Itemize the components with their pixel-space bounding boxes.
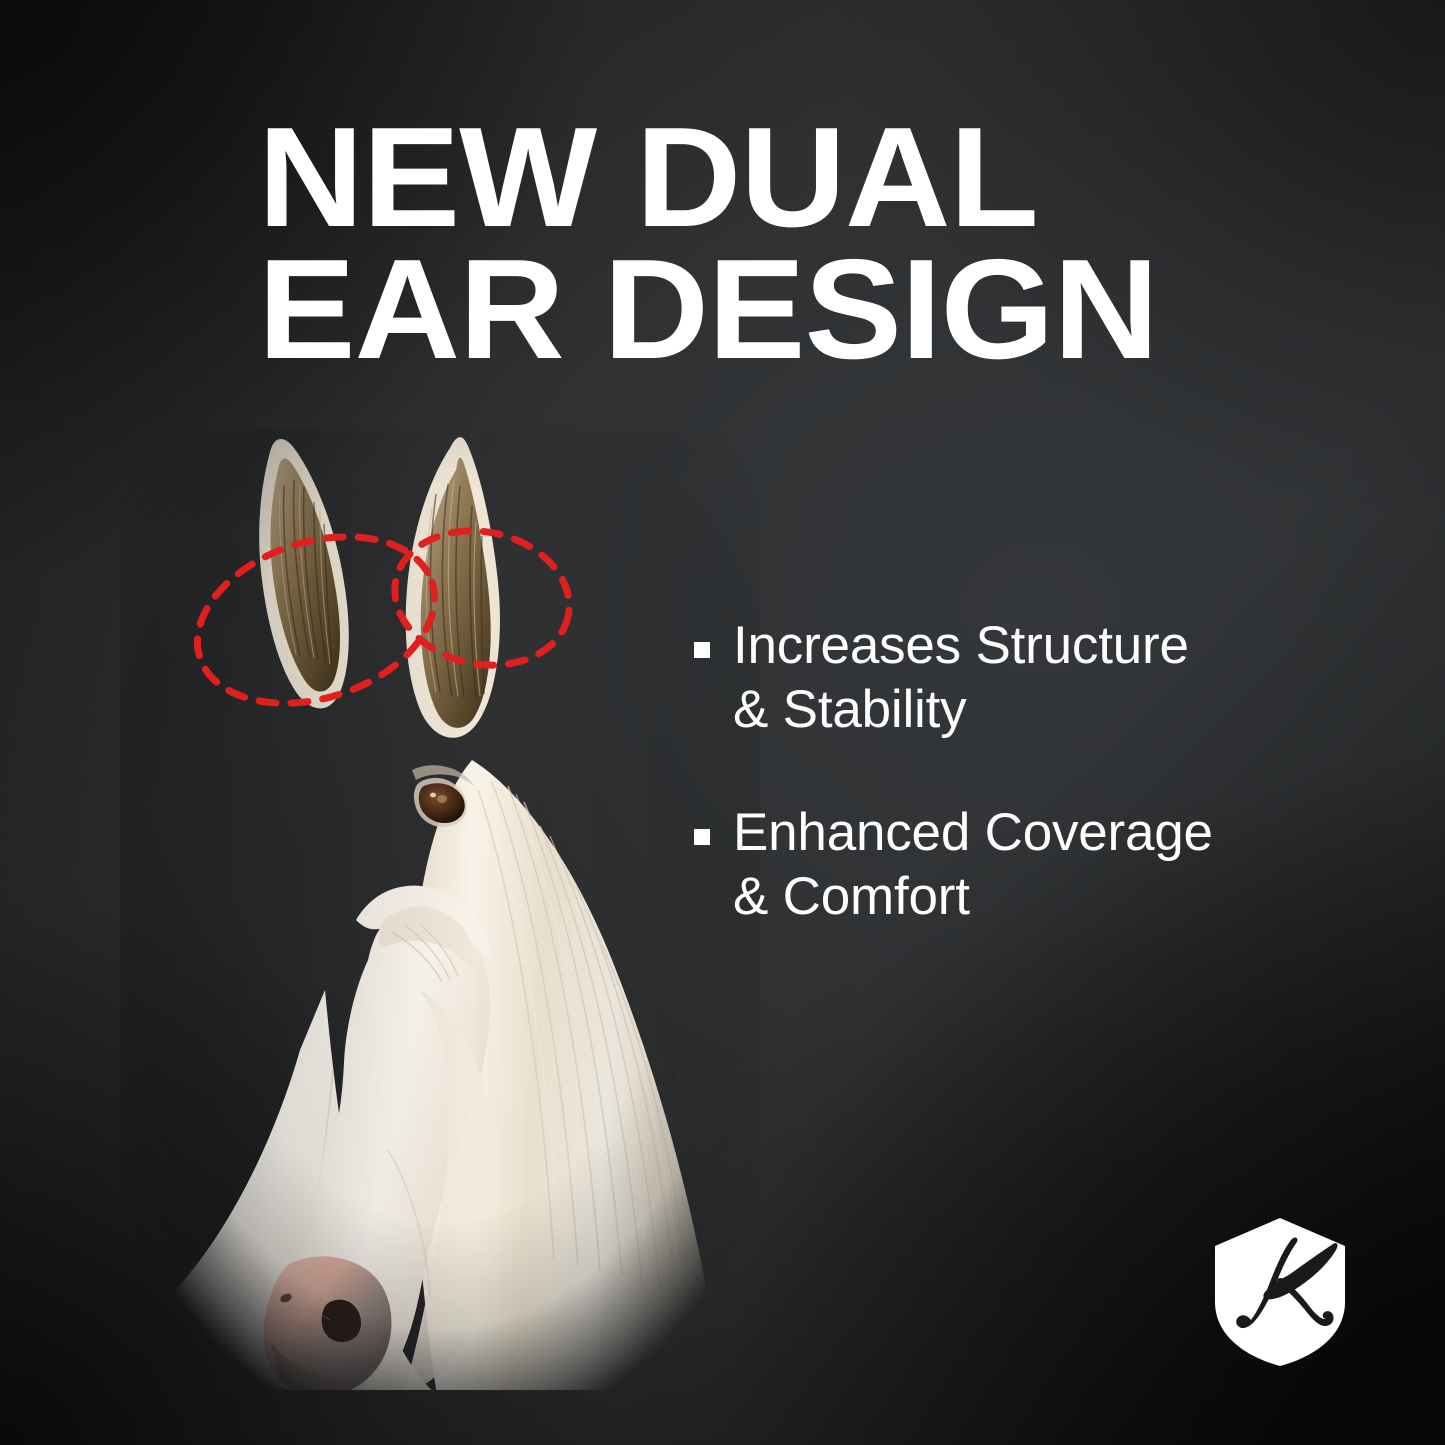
square-bullet-icon (694, 829, 710, 845)
brand-logo (1205, 1216, 1355, 1368)
square-bullet-icon (694, 642, 710, 658)
horse-product-image (120, 430, 760, 1390)
page-title: NEW DUAL EAR DESIGN (258, 112, 1247, 376)
feature-list: Increases Structure & Stability Enhanced… (694, 614, 1354, 928)
list-item: Enhanced Coverage & Comfort (694, 801, 1354, 928)
feature-text: Enhanced Coverage & Comfort (733, 801, 1213, 928)
promo-graphic: NEW DUAL EAR DESIGN (0, 0, 1445, 1445)
list-item: Increases Structure & Stability (694, 614, 1354, 741)
feature-text: Increases Structure & Stability (733, 614, 1189, 741)
